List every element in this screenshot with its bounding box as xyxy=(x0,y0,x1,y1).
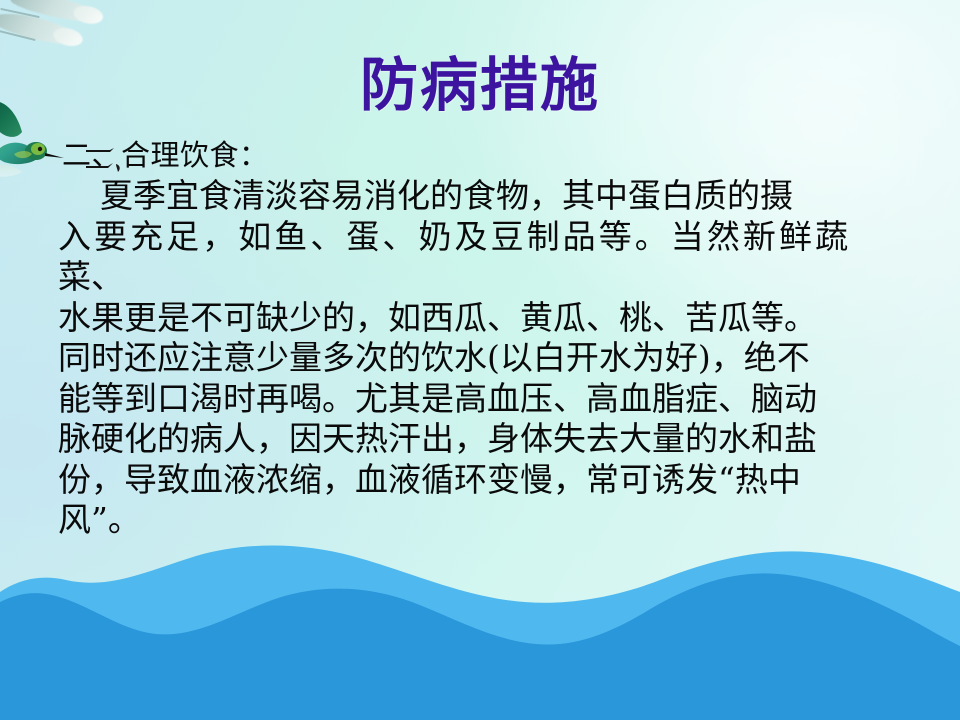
body-text-block: 二、合理饮食： 夏季宜食清淡容易消化的食物，其中蛋白质的摄 入要充足，如鱼、蛋、… xyxy=(58,136,848,541)
section-heading: 二、合理饮食： xyxy=(62,136,848,175)
wave-decoration xyxy=(0,530,960,720)
body-paragraph: 夏季宜食清淡容易消化的食物，其中蛋白质的摄 入要充足，如鱼、蛋、奶及豆制品等。当… xyxy=(58,176,848,541)
slide-canvas: 防病措施 二、合理饮食： 夏季宜食清淡容易消化的食物，其中蛋白质的摄 入要充足，… xyxy=(0,0,960,720)
page-title: 防病措施 xyxy=(0,52,960,118)
